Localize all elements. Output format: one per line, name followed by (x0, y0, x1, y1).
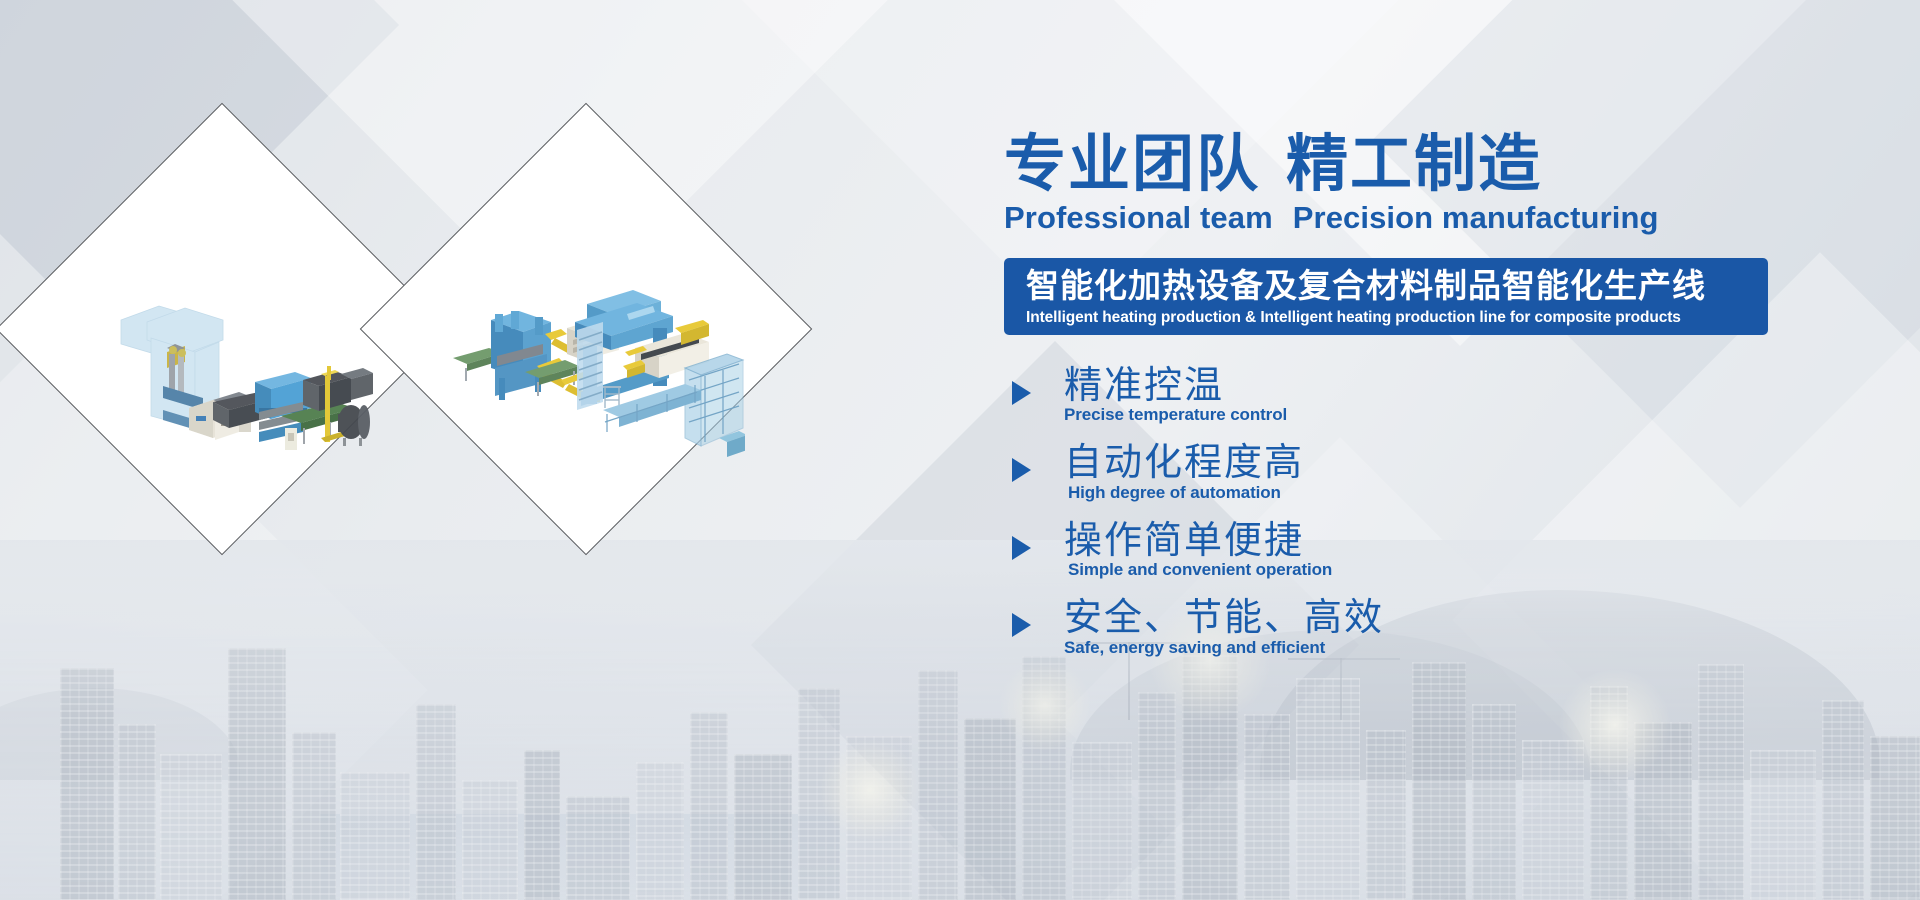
feature-3-chinese: 操作简单便捷 (1064, 520, 1824, 563)
headline-cn-part2: 精工制造 (1286, 130, 1542, 199)
headline-cn-part1: 专业团队 (1004, 130, 1260, 199)
feature-item-2[interactable]: 自动化程度高 High degree of automation (1004, 442, 1824, 503)
feature-list: 精准控温 Precise temperature control 自动化程度高 … (1004, 365, 1824, 658)
feature-3-english: Simple and convenient operation (1068, 560, 1824, 580)
feature-item-3[interactable]: 操作简单便捷 Simple and convenient operation (1004, 520, 1824, 581)
feature-2-english: High degree of automation (1068, 483, 1824, 503)
headline-en-part2: Precision manufacturing (1293, 200, 1659, 235)
composite-products-line-render (427, 170, 745, 488)
product-banner-chinese: 智能化加热设备及复合材料制品智能化生产线 (1026, 267, 1758, 306)
triangle-right-icon (1012, 536, 1031, 560)
product-image-frame-2[interactable] (360, 103, 813, 556)
feature-4-english: Safe, energy saving and efficient (1064, 638, 1824, 658)
marketing-banner: 专业团队精工制造 Professional teamPrecision manu… (0, 0, 1920, 900)
text-content-column: 专业团队精工制造 Professional teamPrecision manu… (1004, 132, 1824, 658)
feature-4-chinese: 安全、节能、高效 (1064, 597, 1824, 640)
product-image-1 (63, 170, 381, 488)
feature-2-chinese: 自动化程度高 (1064, 442, 1824, 485)
triangle-right-icon (1012, 458, 1031, 482)
product-banner-box[interactable]: 智能化加热设备及复合材料制品智能化生产线 Intelligent heating… (1004, 258, 1768, 335)
headline-english: Professional teamPrecision manufacturing (1004, 200, 1824, 236)
feature-1-chinese: 精准控温 (1064, 365, 1824, 408)
heating-production-line-render (63, 170, 381, 488)
feature-item-1[interactable]: 精准控温 Precise temperature control (1004, 365, 1824, 426)
feature-1-english: Precise temperature control (1064, 405, 1824, 425)
headline-chinese: 专业团队精工制造 (1004, 132, 1824, 198)
product-banner-english: Intelligent heating production & Intelli… (1026, 309, 1758, 327)
headline-en-part1: Professional team (1004, 200, 1273, 235)
triangle-right-icon (1012, 613, 1031, 637)
feature-item-4[interactable]: 安全、节能、高效 Safe, energy saving and efficie… (1004, 597, 1824, 658)
product-image-2 (427, 170, 745, 488)
triangle-right-icon (1012, 381, 1031, 405)
